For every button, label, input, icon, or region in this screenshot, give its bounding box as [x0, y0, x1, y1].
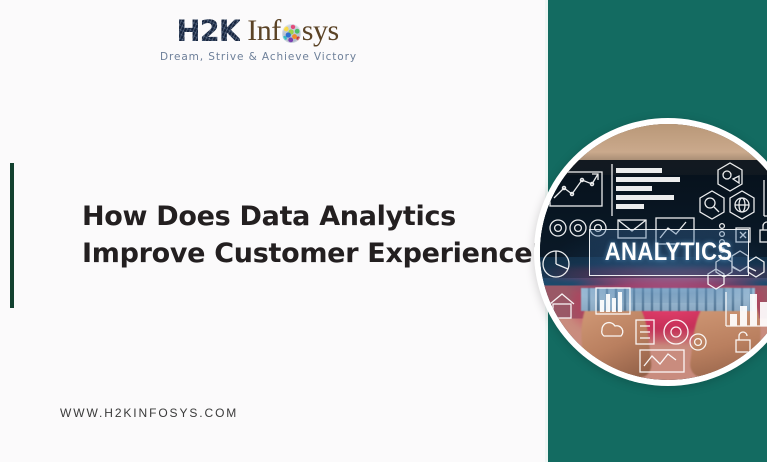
logo-text-sys: sys: [302, 16, 339, 46]
page-title-line-2: Improve Customer Experience?: [82, 235, 502, 272]
line-chart-icon: [640, 350, 684, 372]
gear-icon: [664, 320, 706, 350]
brand-logo: H2K Inf sys Dream, Strive & Achieve Vict…: [160, 16, 355, 63]
logo-wordmark: H2K Inf sys: [160, 16, 355, 46]
feature-image-circle: ANALYTICS: [534, 118, 767, 386]
lock-icon: [760, 222, 767, 242]
logo-tagline: Dream, Strive & Achieve Victory: [160, 51, 355, 63]
line-chart-icon: [550, 172, 602, 206]
page-title: How Does Data Analytics Improve Customer…: [82, 198, 502, 273]
search-hexagon-icon: [700, 191, 724, 219]
footer-website-url: WWW.H2KINFOSYS.COM: [60, 406, 238, 420]
globe-hexagon-icon: [730, 191, 754, 219]
globe-icon: [282, 24, 301, 43]
home-icon: [550, 294, 574, 318]
cloud-icon: [602, 323, 623, 336]
logo-text-inf: Inf: [247, 16, 280, 46]
page-title-line-1: How Does Data Analytics: [82, 198, 502, 235]
document-icon: [636, 320, 654, 344]
analytics-label-box: ANALYTICS: [589, 229, 750, 276]
unlock-icon: [736, 332, 750, 352]
analytics-label: ANALYTICS: [605, 238, 733, 267]
bar-chart-icon: [726, 292, 767, 326]
bar-chart-icon: [596, 288, 630, 314]
chat-hexagon-icon: [718, 163, 742, 191]
slide-canvas: H2K Inf sys Dream, Strive & Achieve Vict…: [0, 0, 767, 462]
logo-text-h2k: H2K: [176, 17, 240, 46]
accent-rule: [10, 163, 14, 308]
bar-chart-icon: [616, 168, 680, 209]
pie-chart-icon: [543, 251, 569, 277]
analytics-photo: ANALYTICS: [540, 124, 767, 380]
